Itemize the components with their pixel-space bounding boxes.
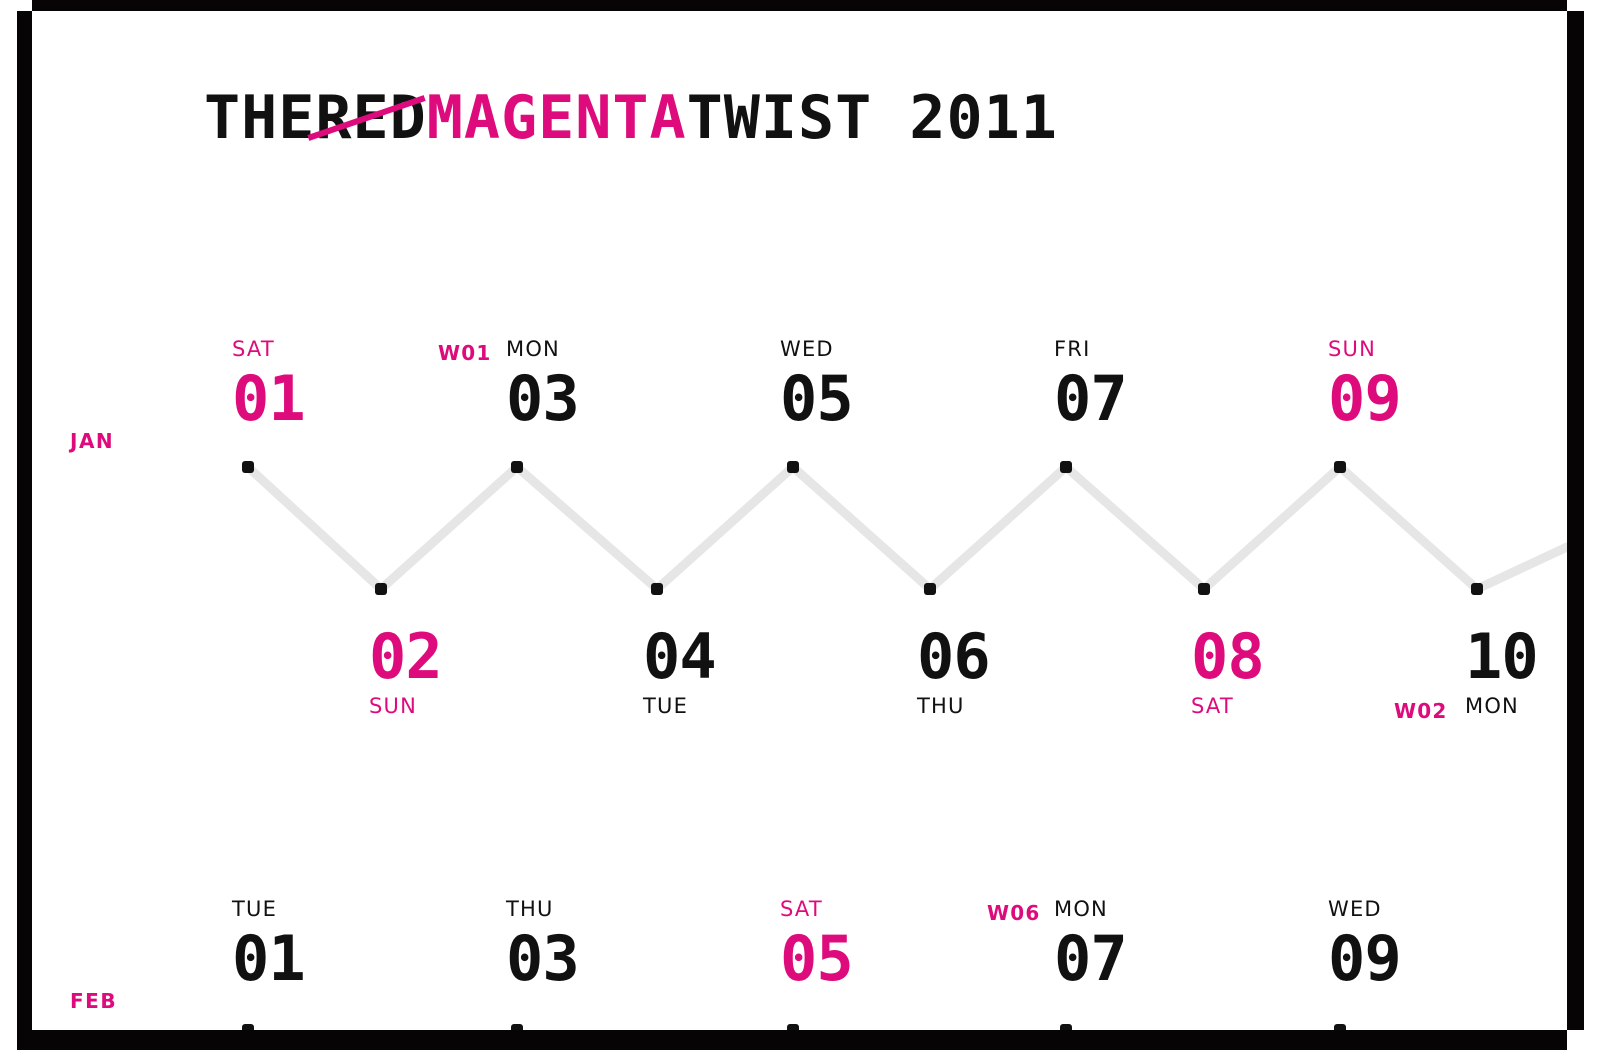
day-number: 07 xyxy=(1054,368,1127,430)
day-of-week-label: THU xyxy=(506,899,579,920)
day-cell-jan-10[interactable]: 10 MON xyxy=(1465,626,1538,717)
day-cell-jan-06[interactable]: 06 THU xyxy=(917,626,990,717)
day-number: 03 xyxy=(506,368,579,430)
day-dot xyxy=(1060,1024,1072,1030)
title-struck-word-wrap: RED xyxy=(315,88,426,148)
day-cell-feb-03[interactable]: THU 03 xyxy=(506,899,579,990)
calendar-page: THE RED MAGENTA TWIST 2011 JAN SAT xyxy=(32,11,1567,1030)
month-row-jan: JAN SAT 01 02 SUN xyxy=(32,301,1567,731)
day-of-week-label: MON xyxy=(506,339,579,360)
screenshot-root: THE RED MAGENTA TWIST 2011 JAN SAT xyxy=(0,0,1600,1060)
week-tag-w01: W01 xyxy=(438,343,492,363)
day-of-week-label: MON xyxy=(1054,899,1127,920)
day-dot xyxy=(787,1024,799,1030)
day-of-week-label: FRI xyxy=(1054,339,1127,360)
day-number: 08 xyxy=(1191,626,1264,688)
day-cell-feb-09[interactable]: WED 09 xyxy=(1328,899,1401,990)
title-highlight-word: MAGENTA xyxy=(427,88,687,148)
day-dot xyxy=(1060,461,1072,473)
day-cell-feb-07[interactable]: MON 07 xyxy=(1054,899,1127,990)
day-cell-jan-05[interactable]: WED 05 xyxy=(780,339,853,430)
day-of-week-label: TUE xyxy=(643,696,716,717)
day-number: 04 xyxy=(643,626,716,688)
page-title: THE RED MAGENTA TWIST 2011 xyxy=(204,88,1058,148)
day-number: 05 xyxy=(780,928,853,990)
day-of-week-label: SUN xyxy=(369,696,442,717)
day-dot xyxy=(511,461,523,473)
day-of-week-label: SAT xyxy=(232,339,305,360)
day-number: 06 xyxy=(917,626,990,688)
day-of-week-label: MON xyxy=(1465,696,1538,717)
title-tail: TWIST 2011 xyxy=(687,88,1058,148)
day-of-week-label: SUN xyxy=(1328,339,1401,360)
week-tag-w02: W02 xyxy=(1394,701,1448,721)
day-of-week-label: SAT xyxy=(780,899,853,920)
month-row-feb: FEB TUE 01 THU 03 SAT 05 xyxy=(32,861,1567,1030)
day-of-week-label: WED xyxy=(780,339,853,360)
day-of-week-label: TUE xyxy=(232,899,305,920)
day-dot xyxy=(1334,461,1346,473)
day-cell-jan-09[interactable]: SUN 09 xyxy=(1328,339,1401,430)
day-cell-feb-01[interactable]: TUE 01 xyxy=(232,899,305,990)
day-cell-jan-07[interactable]: FRI 07 xyxy=(1054,339,1127,430)
day-dot xyxy=(787,461,799,473)
day-number: 03 xyxy=(506,928,579,990)
day-dot xyxy=(1334,1024,1346,1030)
day-cell-jan-01[interactable]: SAT 01 xyxy=(232,339,305,430)
day-number: 02 xyxy=(369,626,442,688)
day-number: 01 xyxy=(232,368,305,430)
day-number: 01 xyxy=(232,928,305,990)
day-dot xyxy=(242,461,254,473)
day-dot xyxy=(375,583,387,595)
day-of-week-label: THU xyxy=(917,696,990,717)
day-number: 05 xyxy=(780,368,853,430)
day-number: 09 xyxy=(1328,368,1401,430)
day-cell-jan-08[interactable]: 08 SAT xyxy=(1191,626,1264,717)
day-cell-jan-03[interactable]: MON 03 xyxy=(506,339,579,430)
day-number: 10 xyxy=(1465,626,1538,688)
day-dot xyxy=(924,583,936,595)
day-dot xyxy=(511,1024,523,1030)
frame-border-left xyxy=(17,11,32,1030)
day-of-week-label: WED xyxy=(1328,899,1401,920)
day-cell-jan-02[interactable]: 02 SUN xyxy=(369,626,442,717)
day-dot xyxy=(1198,583,1210,595)
day-dot xyxy=(242,1024,254,1030)
week-tag-w06: W06 xyxy=(987,903,1041,923)
day-number: 07 xyxy=(1054,928,1127,990)
frame-border-top xyxy=(32,0,1567,11)
day-number: 09 xyxy=(1328,928,1401,990)
day-dot xyxy=(1471,583,1483,595)
day-cell-feb-05[interactable]: SAT 05 xyxy=(780,899,853,990)
day-dot xyxy=(651,583,663,595)
frame-border-right xyxy=(1567,11,1584,1030)
title-lead: THE xyxy=(204,88,315,148)
day-of-week-label: SAT xyxy=(1191,696,1264,717)
frame-border-bottom xyxy=(17,1030,1567,1050)
day-cell-jan-04[interactable]: 04 TUE xyxy=(643,626,716,717)
